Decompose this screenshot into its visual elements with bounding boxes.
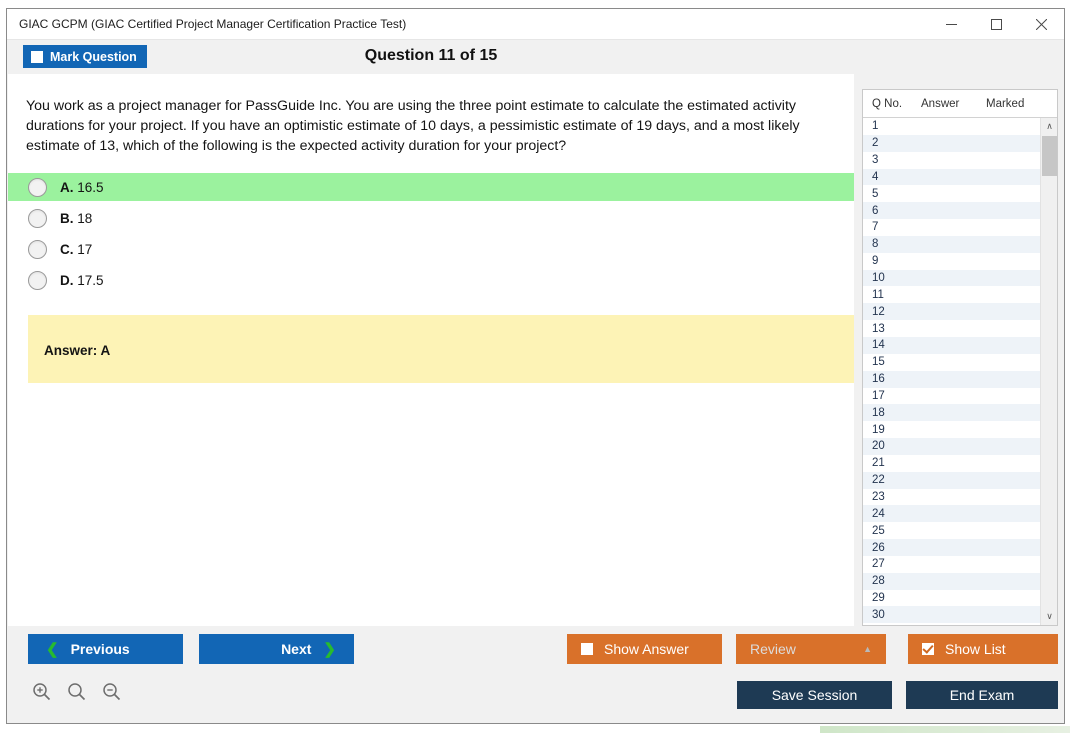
row-question-number: 10 (863, 272, 921, 284)
close-icon[interactable] (1019, 9, 1064, 39)
chevron-up-icon: ▲ (863, 644, 872, 654)
table-row[interactable]: 9 (863, 253, 1057, 270)
table-row[interactable]: 14 (863, 337, 1057, 354)
row-question-number: 28 (863, 575, 921, 587)
table-row[interactable]: 16 (863, 371, 1057, 388)
save-session-label: Save Session (772, 687, 858, 703)
answer-text: Answer: A (44, 343, 110, 358)
row-question-number: 2 (863, 137, 921, 149)
question-counter-title: Question 11 of 15 (7, 47, 855, 65)
option-row-a[interactable]: A. 16.5 (8, 173, 854, 201)
zoom-out-icon[interactable] (98, 678, 124, 704)
row-question-number: 21 (863, 457, 921, 469)
zoom-reset-icon[interactable] (63, 678, 89, 704)
table-row[interactable]: 21 (863, 455, 1057, 472)
option-row-d[interactable]: D. 17.5 (8, 266, 854, 294)
table-row[interactable]: 26 (863, 539, 1057, 556)
table-row[interactable]: 13 (863, 320, 1057, 337)
question-pane: You work as a project manager for PassGu… (8, 74, 854, 626)
column-header-answer: Answer (921, 98, 986, 110)
table-row[interactable]: 22 (863, 472, 1057, 489)
table-row[interactable]: 23 (863, 489, 1057, 506)
scroll-up-icon[interactable]: ∧ (1041, 118, 1058, 135)
row-question-number: 19 (863, 424, 921, 436)
bottom-toolbar: ❮ Previous Next ❯ Show Answer Review ▲ S… (8, 626, 1064, 723)
row-question-number: 23 (863, 491, 921, 503)
option-radio-c[interactable] (28, 240, 47, 259)
answer-options-list: A. 16.5 B. 18 C. 17 D. 17.5 (8, 173, 854, 297)
exam-window: GIAC GCPM (GIAC Certified Project Manage… (6, 8, 1065, 724)
table-row[interactable]: 27 (863, 556, 1057, 573)
show-list-label: Show List (945, 641, 1006, 657)
table-row[interactable]: 3 (863, 152, 1057, 169)
table-row[interactable]: 12 (863, 303, 1057, 320)
question-list-body[interactable]: 1234567891011121314151617181920212223242… (863, 118, 1057, 625)
question-list-header: Q No. Answer Marked (863, 90, 1057, 118)
zoom-in-icon[interactable] (28, 678, 54, 704)
question-list-panel: Q No. Answer Marked 12345678910111213141… (862, 89, 1058, 626)
show-list-checkbox[interactable] (922, 643, 934, 655)
row-question-number: 16 (863, 373, 921, 385)
row-question-number: 24 (863, 508, 921, 520)
table-row[interactable]: 19 (863, 421, 1057, 438)
row-question-number: 14 (863, 339, 921, 351)
row-question-number: 26 (863, 542, 921, 554)
row-question-number: 4 (863, 171, 921, 183)
option-radio-a[interactable] (28, 178, 47, 197)
row-question-number: 12 (863, 306, 921, 318)
end-exam-label: End Exam (950, 687, 1015, 703)
table-row[interactable]: 7 (863, 219, 1057, 236)
scrollbar-thumb[interactable] (1042, 136, 1057, 176)
end-exam-button[interactable]: End Exam (906, 681, 1058, 709)
row-question-number: 11 (863, 289, 921, 301)
table-row[interactable]: 24 (863, 505, 1057, 522)
table-row[interactable]: 17 (863, 388, 1057, 405)
option-label-c: C. 17 (60, 242, 92, 257)
table-row[interactable]: 18 (863, 404, 1057, 421)
row-question-number: 5 (863, 188, 921, 200)
show-answer-button[interactable]: Show Answer (567, 634, 722, 664)
chevron-left-icon: ❮ (46, 642, 59, 657)
table-row[interactable]: 1 (863, 118, 1057, 135)
table-row[interactable]: 30 (863, 606, 1057, 623)
option-label-d: D. 17.5 (60, 273, 104, 288)
answer-explanation-box: Answer: A (28, 315, 854, 383)
option-label-b: B. 18 (60, 211, 92, 226)
zoom-controls (28, 678, 124, 704)
row-question-number: 25 (863, 525, 921, 537)
option-row-c[interactable]: C. 17 (8, 235, 854, 263)
previous-button[interactable]: ❮ Previous (28, 634, 183, 664)
option-label-a: A. 16.5 (60, 180, 104, 195)
table-row[interactable]: 10 (863, 270, 1057, 287)
table-row[interactable]: 8 (863, 236, 1057, 253)
maximize-icon[interactable] (974, 9, 1019, 39)
window-title: GIAC GCPM (GIAC Certified Project Manage… (19, 17, 406, 31)
title-bar: GIAC GCPM (GIAC Certified Project Manage… (7, 9, 1064, 40)
row-question-number: 8 (863, 238, 921, 250)
column-header-marked: Marked (986, 98, 1046, 110)
question-text: You work as a project manager for PassGu… (26, 96, 838, 156)
table-row[interactable]: 29 (863, 590, 1057, 607)
row-question-number: 15 (863, 356, 921, 368)
table-row[interactable]: 15 (863, 354, 1057, 371)
review-label: Review (750, 641, 796, 657)
table-row[interactable]: 4 (863, 169, 1057, 186)
show-answer-checkbox[interactable] (581, 643, 593, 655)
row-question-number: 9 (863, 255, 921, 267)
option-radio-b[interactable] (28, 209, 47, 228)
row-question-number: 3 (863, 154, 921, 166)
row-question-number: 7 (863, 221, 921, 233)
scroll-down-icon[interactable]: ∨ (1041, 608, 1058, 625)
table-row[interactable]: 11 (863, 286, 1057, 303)
question-list-scrollbar[interactable]: ∧ ∨ (1040, 118, 1057, 625)
window-controls (929, 9, 1064, 39)
minimize-icon[interactable] (929, 9, 974, 39)
row-question-number: 30 (863, 609, 921, 621)
table-row[interactable]: 20 (863, 438, 1057, 455)
show-list-button[interactable]: Show List (908, 634, 1058, 664)
option-row-b[interactable]: B. 18 (8, 204, 854, 232)
row-question-number: 20 (863, 440, 921, 452)
row-question-number: 6 (863, 205, 921, 217)
review-dropdown[interactable]: Review ▲ (736, 634, 886, 664)
next-label: Next (281, 641, 311, 657)
row-question-number: 13 (863, 323, 921, 335)
save-session-button[interactable]: Save Session (737, 681, 892, 709)
table-row[interactable]: 6 (863, 202, 1057, 219)
next-button[interactable]: Next ❯ (199, 634, 354, 664)
row-question-number: 18 (863, 407, 921, 419)
table-row[interactable]: 2 (863, 135, 1057, 152)
row-question-number: 1 (863, 120, 921, 132)
desktop-background-sliver (820, 726, 1070, 733)
row-question-number: 17 (863, 390, 921, 402)
table-row[interactable]: 5 (863, 185, 1057, 202)
chevron-right-icon: ❯ (323, 642, 336, 657)
previous-label: Previous (71, 641, 130, 657)
table-row[interactable]: 25 (863, 522, 1057, 539)
header-bar: Mark Question Question 11 of 15 (7, 40, 1064, 74)
table-row[interactable]: 28 (863, 573, 1057, 590)
row-question-number: 22 (863, 474, 921, 486)
show-answer-label: Show Answer (604, 641, 689, 657)
row-question-number: 29 (863, 592, 921, 604)
column-header-qno: Q No. (863, 98, 921, 110)
row-question-number: 27 (863, 558, 921, 570)
option-radio-d[interactable] (28, 271, 47, 290)
